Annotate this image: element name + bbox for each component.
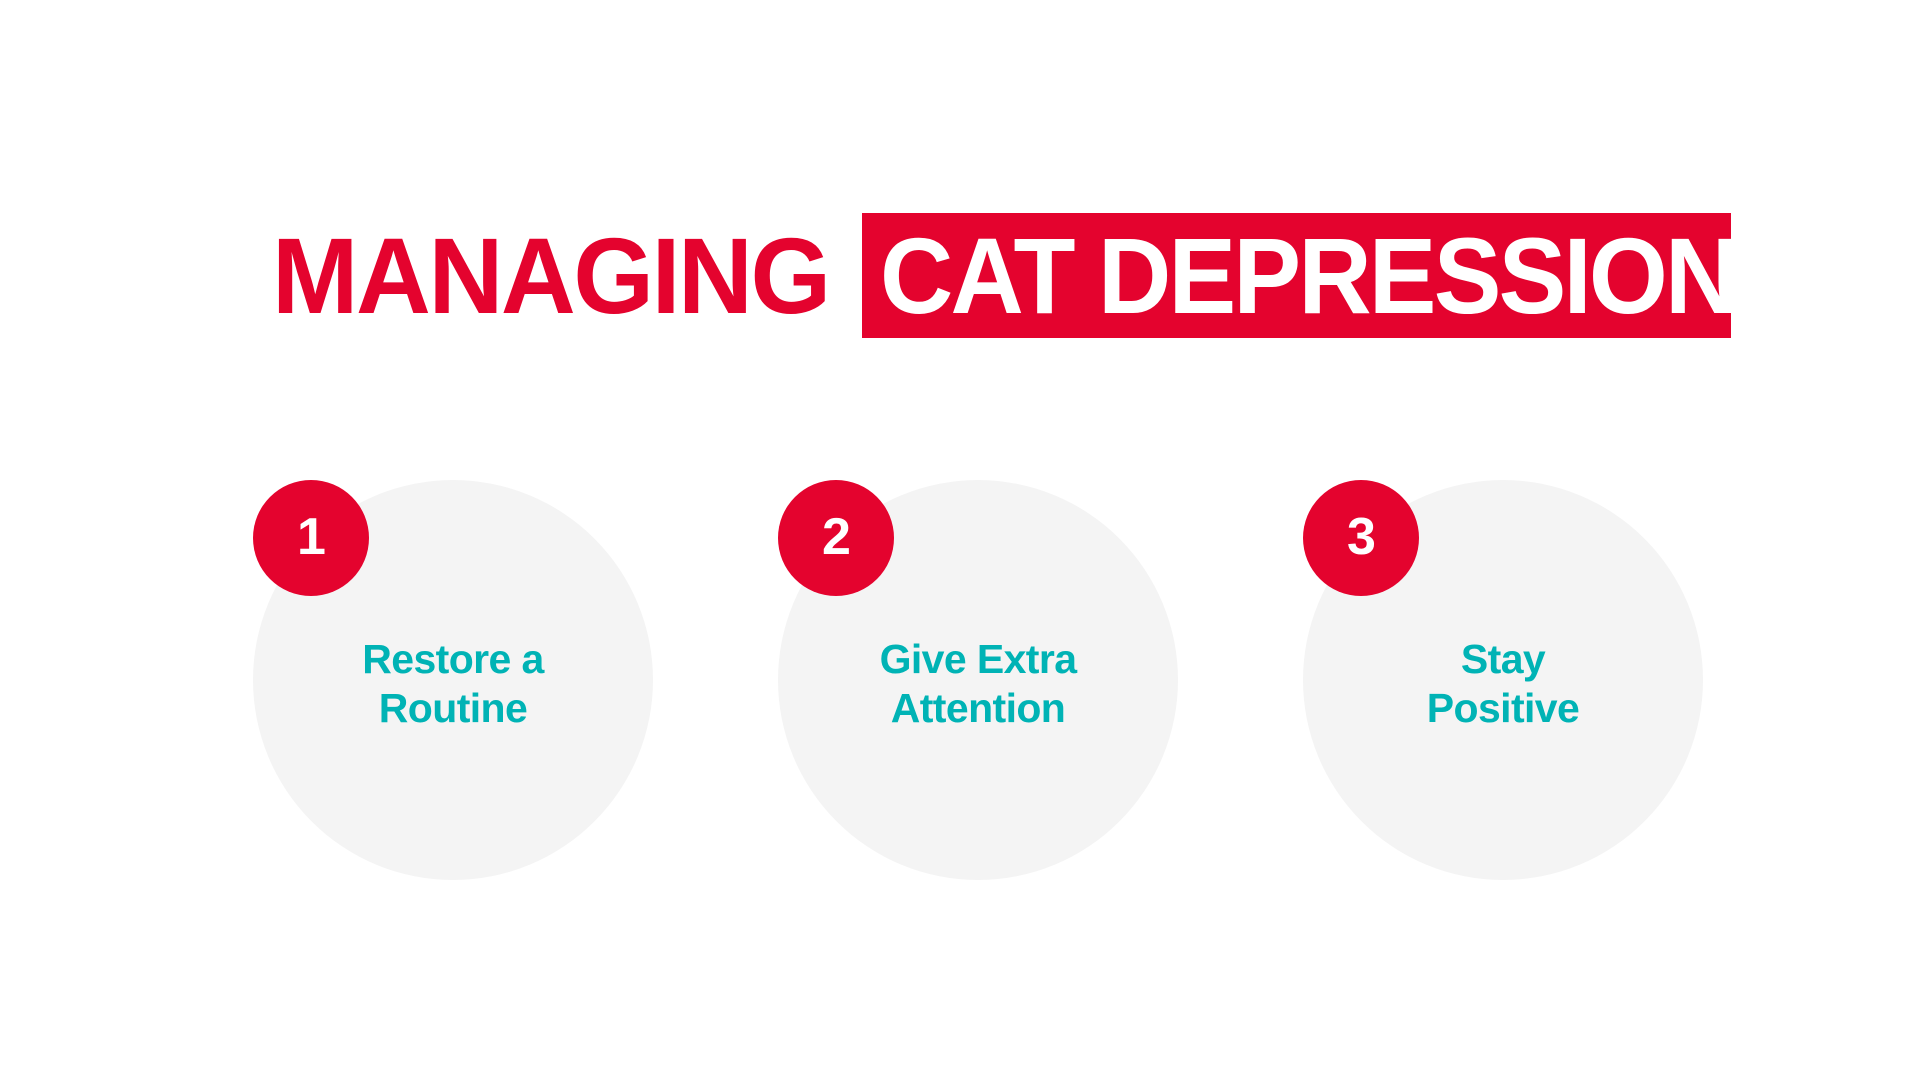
step-number-badge: 3 [1303, 480, 1419, 596]
step-number-label: 3 [1347, 511, 1375, 563]
step-number-label: 1 [297, 511, 325, 563]
slide-canvas: MANAGING CAT DEPRESSION 1 Restore a Rout… [0, 0, 1920, 1080]
step-card-1[interactable]: 1 Restore a Routine [253, 480, 653, 880]
steps-list: 1 Restore a Routine 2 Give Extra Attenti… [0, 0, 1920, 1080]
step-label-line-2: Routine [379, 684, 527, 733]
step-card-3[interactable]: 3 Stay Positive [1303, 480, 1703, 880]
step-number-badge: 1 [253, 480, 369, 596]
step-label-line-2: Attention [891, 684, 1066, 733]
step-number-badge: 2 [778, 480, 894, 596]
step-card-2[interactable]: 2 Give Extra Attention [778, 480, 1178, 880]
step-label-line-1: Restore a [362, 635, 543, 684]
step-label-line-1: Stay [1461, 635, 1545, 684]
step-label-line-1: Give Extra [880, 635, 1077, 684]
step-label-line-2: Positive [1427, 684, 1579, 733]
step-number-label: 2 [822, 511, 850, 563]
